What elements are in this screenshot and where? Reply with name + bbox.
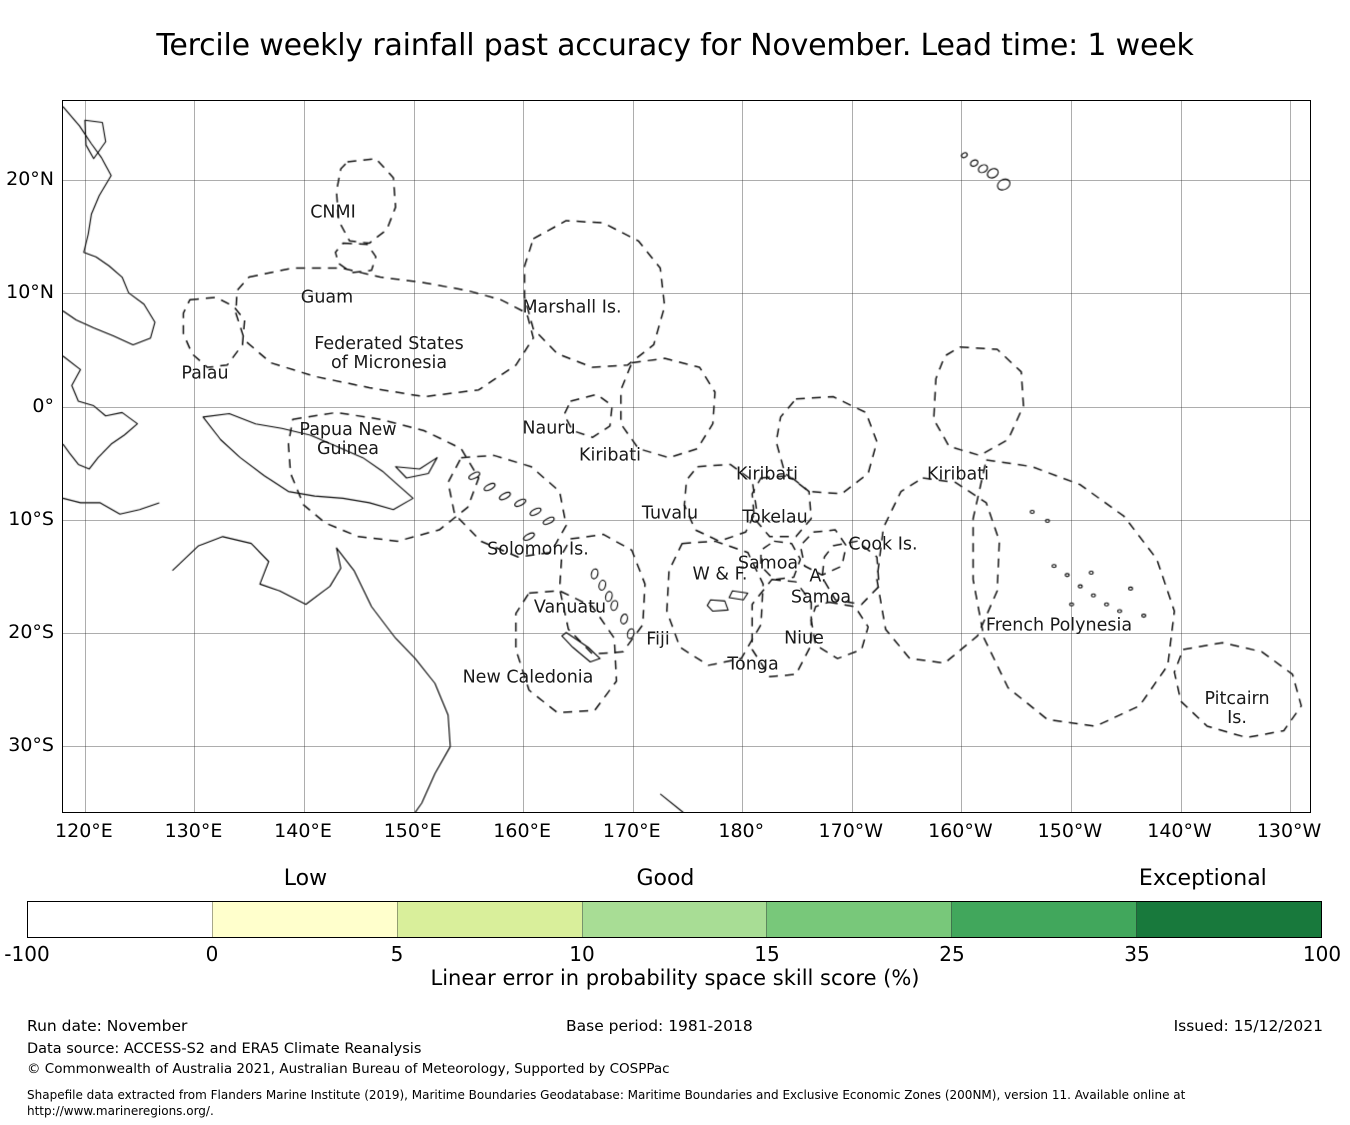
colorbar-segment-10-to-15 (582, 902, 767, 937)
gridline-vertical (85, 101, 86, 812)
x-tick-150°E: 150°E (384, 820, 442, 842)
x-tick-120°E: 120°E (55, 820, 113, 842)
colorbar-tick--100: -100 (4, 942, 49, 966)
gridline-horizontal (63, 293, 1310, 294)
x-tick-140°W: 140°W (1147, 820, 1212, 842)
gridline-horizontal (63, 520, 1310, 521)
footer-copyright: © Commonwealth of Australia 2021, Austra… (27, 1061, 670, 1077)
y-tick-30°S: 30°S (8, 734, 54, 756)
y-tick-0°: 0° (32, 395, 54, 417)
gridline-vertical (414, 101, 415, 812)
y-tick-10°N: 10°N (6, 281, 54, 303)
gridline-vertical (742, 101, 743, 812)
colorbar-tick-35: 35 (1124, 942, 1149, 966)
gridline-vertical (852, 101, 853, 812)
gridline-vertical (961, 101, 962, 812)
x-tick-150°W: 150°W (1038, 820, 1103, 842)
page-title: Tercile weekly rainfall past accuracy fo… (0, 28, 1350, 63)
map-plot-area: CNMIGuamMarshall Is.PalauFederated State… (62, 100, 1311, 813)
gridline-vertical (523, 101, 524, 812)
gridline-horizontal (63, 180, 1310, 181)
footer-run-date: Run date: November (27, 1017, 187, 1035)
colorbar-category-low: Low (284, 866, 327, 891)
gridline-vertical (1181, 101, 1182, 812)
gridline-vertical (633, 101, 634, 812)
x-tick-130°E: 130°E (165, 820, 223, 842)
colorbar-tick-0: 0 (206, 942, 219, 966)
x-tick-170°E: 170°E (603, 820, 661, 842)
colorbar-segment-35-to-100 (1136, 902, 1321, 937)
y-tick-20°S: 20°S (8, 621, 54, 643)
gridline-vertical (1071, 101, 1072, 812)
gridline-horizontal (63, 746, 1310, 747)
colorbar-tick-15: 15 (754, 942, 779, 966)
footer-shapefile-line1: Shapefile data extracted from Flanders M… (27, 1088, 1185, 1102)
gridline-vertical (194, 101, 195, 812)
footer-data-source: Data source: ACCESS-S2 and ERA5 Climate … (27, 1041, 421, 1057)
colorbar-segment-5-to-10 (397, 902, 582, 937)
gridline-horizontal (63, 633, 1310, 634)
colorbar-segment-0-to-5 (212, 902, 397, 937)
colorbar-axis-label: Linear error in probability space skill … (0, 966, 1350, 990)
footer-shapefile-line2: http://www.marineregions.org/. (27, 1104, 214, 1118)
colorbar-segment--100-to-0 (28, 902, 212, 937)
gridline-vertical (304, 101, 305, 812)
gridline-horizontal (63, 407, 1310, 408)
colorbar (27, 901, 1322, 938)
x-tick-140°E: 140°E (274, 820, 332, 842)
colorbar-category-exceptional: Exceptional (1139, 866, 1267, 891)
x-tick-160°E: 160°E (493, 820, 551, 842)
colorbar-tick-5: 5 (391, 942, 404, 966)
x-tick-130°W: 130°W (1257, 820, 1322, 842)
colorbar-segment-15-to-25 (766, 902, 951, 937)
footer-issued-date: Issued: 15/12/2021 (1174, 1017, 1323, 1035)
colorbar-tick-10: 10 (569, 942, 594, 966)
colorbar-tick-100: 100 (1303, 942, 1341, 966)
x-tick-160°W: 160°W (928, 820, 993, 842)
gridline-vertical (1290, 101, 1291, 812)
y-tick-20°N: 20°N (6, 168, 54, 190)
x-tick-180°: 180° (718, 820, 764, 842)
x-tick-170°W: 170°W (819, 820, 884, 842)
y-tick-10°S: 10°S (8, 508, 54, 530)
colorbar-tick-25: 25 (939, 942, 964, 966)
rainfall-skill-heatmap (63, 101, 1310, 812)
footer-base-period: Base period: 1981-2018 (566, 1017, 753, 1035)
colorbar-segment-25-to-35 (951, 902, 1136, 937)
colorbar-category-good: Good (636, 866, 694, 891)
